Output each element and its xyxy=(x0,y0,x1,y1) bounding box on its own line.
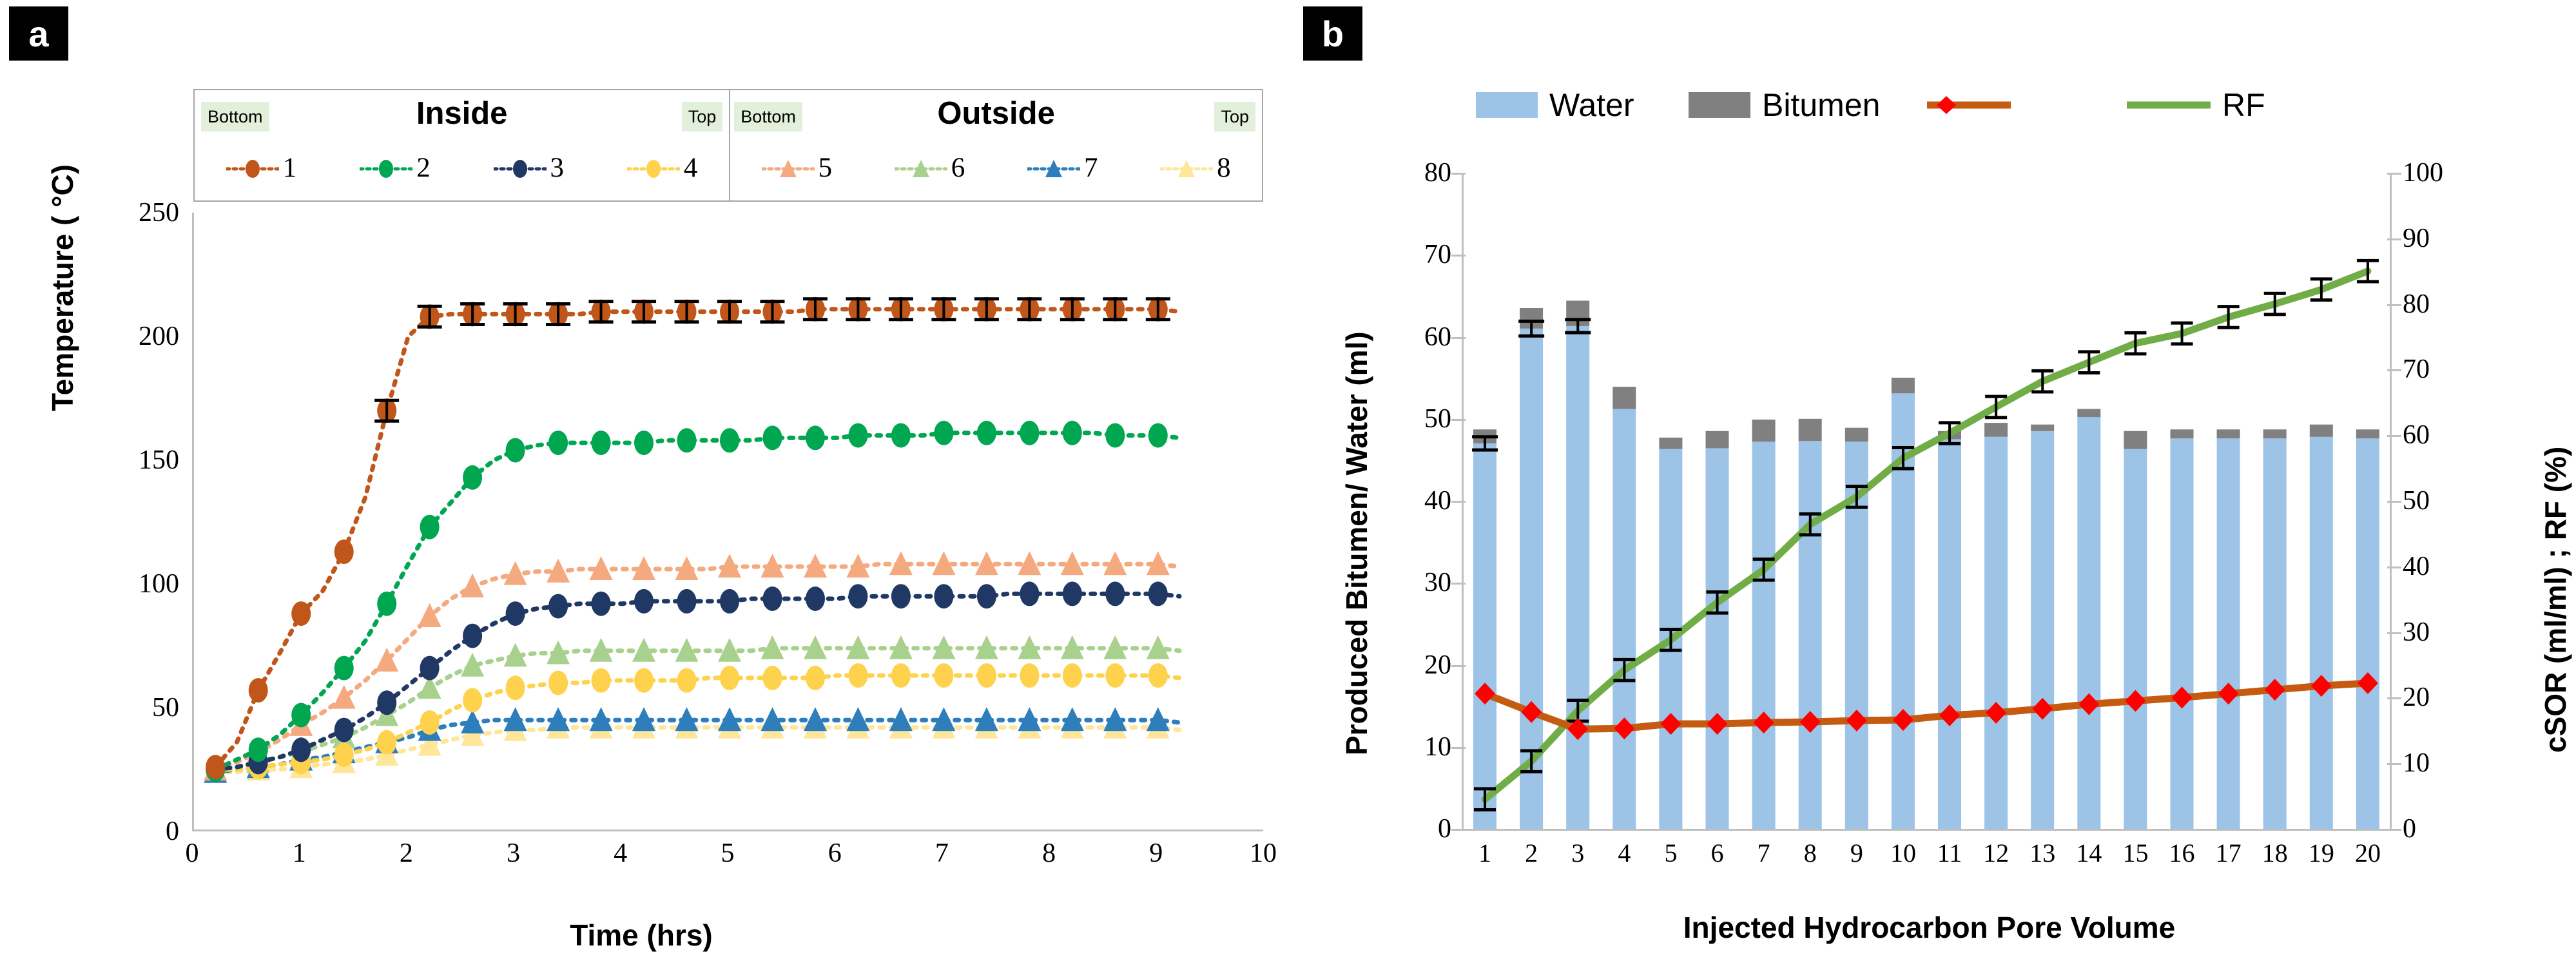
panel-b-x-tick-20: 20 xyxy=(2355,838,2381,868)
panel-b-bar-group[interactable] xyxy=(2356,429,2379,829)
panel-b-left-tick-10: 10 xyxy=(1366,732,1451,762)
panel-b-right-tick-70: 70 xyxy=(2403,354,2430,385)
panel-b-right-tick-0: 0 xyxy=(2403,813,2416,844)
panel-b-bar-group[interactable] xyxy=(2031,425,2054,829)
panel-b-bitumen-bar xyxy=(2217,429,2240,438)
panel-b-legend-item-rf[interactable]: RF xyxy=(2127,86,2265,124)
panel-b-water-bar xyxy=(2031,431,2054,829)
panel-b-bar-group[interactable] xyxy=(1706,431,1729,829)
legend-swatch-water-icon xyxy=(1476,92,1538,118)
panel-b-right-tick-90: 90 xyxy=(2403,223,2430,254)
panel-b-x-tick-11: 11 xyxy=(1937,838,1962,868)
panel-b-bitumen-bar xyxy=(1612,387,1636,409)
panel-b-x-tick-17: 17 xyxy=(2216,838,2242,868)
panel-b-left-tick-0: 0 xyxy=(1366,813,1451,844)
panel-b-bitumen-bar xyxy=(2077,409,2100,418)
figure-root: a Bottom Inside Top 1234 Bottom Outside … xyxy=(0,0,2576,979)
panel-b-bar-group[interactable] xyxy=(1472,429,1498,829)
panel-b-water-bar xyxy=(1984,437,2008,829)
panel-b-right-tick-40: 40 xyxy=(2403,551,2430,582)
legend-line-csor-icon xyxy=(1927,92,2011,118)
panel-b-bar-group[interactable] xyxy=(2217,429,2240,829)
panel-b-water-bar xyxy=(2124,449,2147,829)
panel-b-bitumen-bar xyxy=(2263,429,2287,438)
panel-b-x-tick-15: 15 xyxy=(2122,838,2148,868)
panel-b-bar-group[interactable] xyxy=(2124,431,2147,829)
panel-b-bar-group[interactable] xyxy=(1892,378,1915,829)
panel-b-bar-group[interactable] xyxy=(1799,419,1822,829)
panel-b-water-bar xyxy=(2217,438,2240,829)
panel-b-water-bar xyxy=(2171,438,2194,829)
panel-b-left-tick-20: 20 xyxy=(1366,650,1451,681)
panel-b-water-bar xyxy=(1612,409,1636,829)
panel-b-bar-group[interactable] xyxy=(2310,425,2333,829)
panel-b-legend: WaterBitumenRF xyxy=(1476,81,2410,129)
panel-b: b WaterBitumenRF 01020304050607080 01020… xyxy=(0,0,2576,979)
panel-b-bottom-axis-line xyxy=(1462,829,2393,831)
panel-b-left-tick-70: 70 xyxy=(1366,239,1451,270)
panel-b-water-bar xyxy=(2310,437,2333,829)
panel-b-x-tick-14: 14 xyxy=(2076,838,2102,868)
panel-b-x-tick-8: 8 xyxy=(1804,838,1817,868)
panel-b-right-y-ticks: 0102030405060708090100 xyxy=(2403,173,2493,829)
panel-b-bitumen-bar xyxy=(2171,429,2194,438)
panel-b-bar-group[interactable] xyxy=(1565,301,1591,829)
panel-b-water-bar xyxy=(1473,443,1496,829)
panel-b-legend-item-bitumen[interactable]: Bitumen xyxy=(1689,86,1880,124)
panel-b-bar-group[interactable] xyxy=(2171,429,2194,829)
panel-b-legend-item-csor[interactable] xyxy=(1927,92,2022,118)
panel-b-left-tick-40: 40 xyxy=(1366,485,1451,516)
panel-b-water-bar xyxy=(2263,438,2287,829)
panel-b-bar-group[interactable] xyxy=(1938,431,1961,829)
panel-b-bitumen-bar xyxy=(1752,420,1776,441)
panel-b-bitumen-bar xyxy=(1659,438,1682,449)
panel-b-x-tick-7: 7 xyxy=(1758,838,1770,868)
panel-b-x-tick-19: 19 xyxy=(2309,838,2334,868)
panel-b-legend-item-water[interactable]: Water xyxy=(1476,86,1634,124)
panel-b-x-tick-18: 18 xyxy=(2262,838,2288,868)
panel-b-x-tick-2: 2 xyxy=(1525,838,1538,868)
panel-b-bitumen-bar xyxy=(2031,425,2054,431)
panel-b-x-tick-16: 16 xyxy=(2169,838,2195,868)
panel-b-right-tick-100: 100 xyxy=(2403,157,2443,188)
panel-b-bitumen-bar xyxy=(2310,425,2333,437)
panel-b-water-bar xyxy=(1566,326,1589,829)
panel-b-bitumen-bar xyxy=(1892,378,1915,393)
panel-b-left-axis-title: Produced Bitumen/ Water (ml) xyxy=(1339,331,1374,755)
panel-b-bitumen-bar xyxy=(1845,428,1868,442)
panel-b-bar-group[interactable] xyxy=(1984,423,2008,829)
panel-b-right-tick-50: 50 xyxy=(2403,485,2430,516)
panel-b-plot-area xyxy=(1462,173,2391,829)
panel-b-right-axis-title: cSOR (ml/ml) ; RF (%) xyxy=(2538,447,2573,753)
panel-b-x-axis-title: Injected Hydrocarbon Pore Volume xyxy=(1283,910,2576,945)
panel-b-x-tick-1: 1 xyxy=(1478,838,1491,868)
panel-b-bitumen-bar xyxy=(1706,431,1729,449)
panel-b-bar-group[interactable] xyxy=(1612,387,1636,829)
panel-b-legend-label-water: Water xyxy=(1549,86,1634,124)
panel-b-right-tick-80: 80 xyxy=(2403,289,2430,320)
panel-b-bitumen-bar xyxy=(2124,431,2147,449)
panel-b-x-tick-13: 13 xyxy=(2029,838,2055,868)
panel-b-water-bar xyxy=(1938,440,1961,829)
panel-b-x-tick-6: 6 xyxy=(1711,838,1724,868)
panel-b-x-tick-5: 5 xyxy=(1664,838,1677,868)
panel-b-water-bar xyxy=(1799,441,1822,829)
panel-b-water-bar xyxy=(1706,449,1729,829)
panel-b-x-tick-12: 12 xyxy=(1983,838,2009,868)
panel-b-right-tick-20: 20 xyxy=(2403,682,2430,713)
panel-b-right-tick-30: 30 xyxy=(2403,617,2430,648)
panel-b-left-y-ticks: 01020304050607080 xyxy=(1366,173,1451,829)
panel-b-bar-group[interactable] xyxy=(1752,420,1776,829)
panel-b-bitumen-bar xyxy=(1799,419,1822,441)
panel-b-water-bar xyxy=(2077,417,2100,829)
panel-b-left-tick-50: 50 xyxy=(1366,403,1451,434)
panel-b-bar-group[interactable] xyxy=(2263,429,2287,829)
panel-b-left-tick-60: 60 xyxy=(1366,322,1451,353)
panel-b-series-svg xyxy=(1462,173,2391,829)
panel-b-legend-label-bitumen: Bitumen xyxy=(1762,86,1880,124)
panel-b-bitumen-bar xyxy=(2356,429,2379,438)
panel-b-x-tick-9: 9 xyxy=(1850,838,1863,868)
panel-b-right-tick-60: 60 xyxy=(2403,420,2430,451)
panel-b-bitumen-bar xyxy=(1984,423,2008,437)
panel-b-water-bar xyxy=(1752,441,1776,829)
panel-b-x-tick-10: 10 xyxy=(1890,838,1916,868)
panel-b-x-tick-3: 3 xyxy=(1571,838,1584,868)
panel-b-label: b xyxy=(1303,6,1362,61)
panel-b-bar-group[interactable] xyxy=(2077,409,2100,829)
legend-line-rf-icon xyxy=(2127,92,2211,118)
legend-swatch-bitumen-icon xyxy=(1689,92,1750,118)
panel-b-left-tick-30: 30 xyxy=(1366,567,1451,598)
panel-b-x-ticks: 1234567891011121314151617181920 xyxy=(1462,838,2391,877)
panel-b-water-bar xyxy=(2356,438,2379,829)
panel-b-left-tick-80: 80 xyxy=(1366,157,1451,188)
panel-b-x-tick-4: 4 xyxy=(1618,838,1631,868)
panel-b-legend-label-rf: RF xyxy=(2222,86,2265,124)
panel-b-right-tick-10: 10 xyxy=(2403,748,2430,779)
